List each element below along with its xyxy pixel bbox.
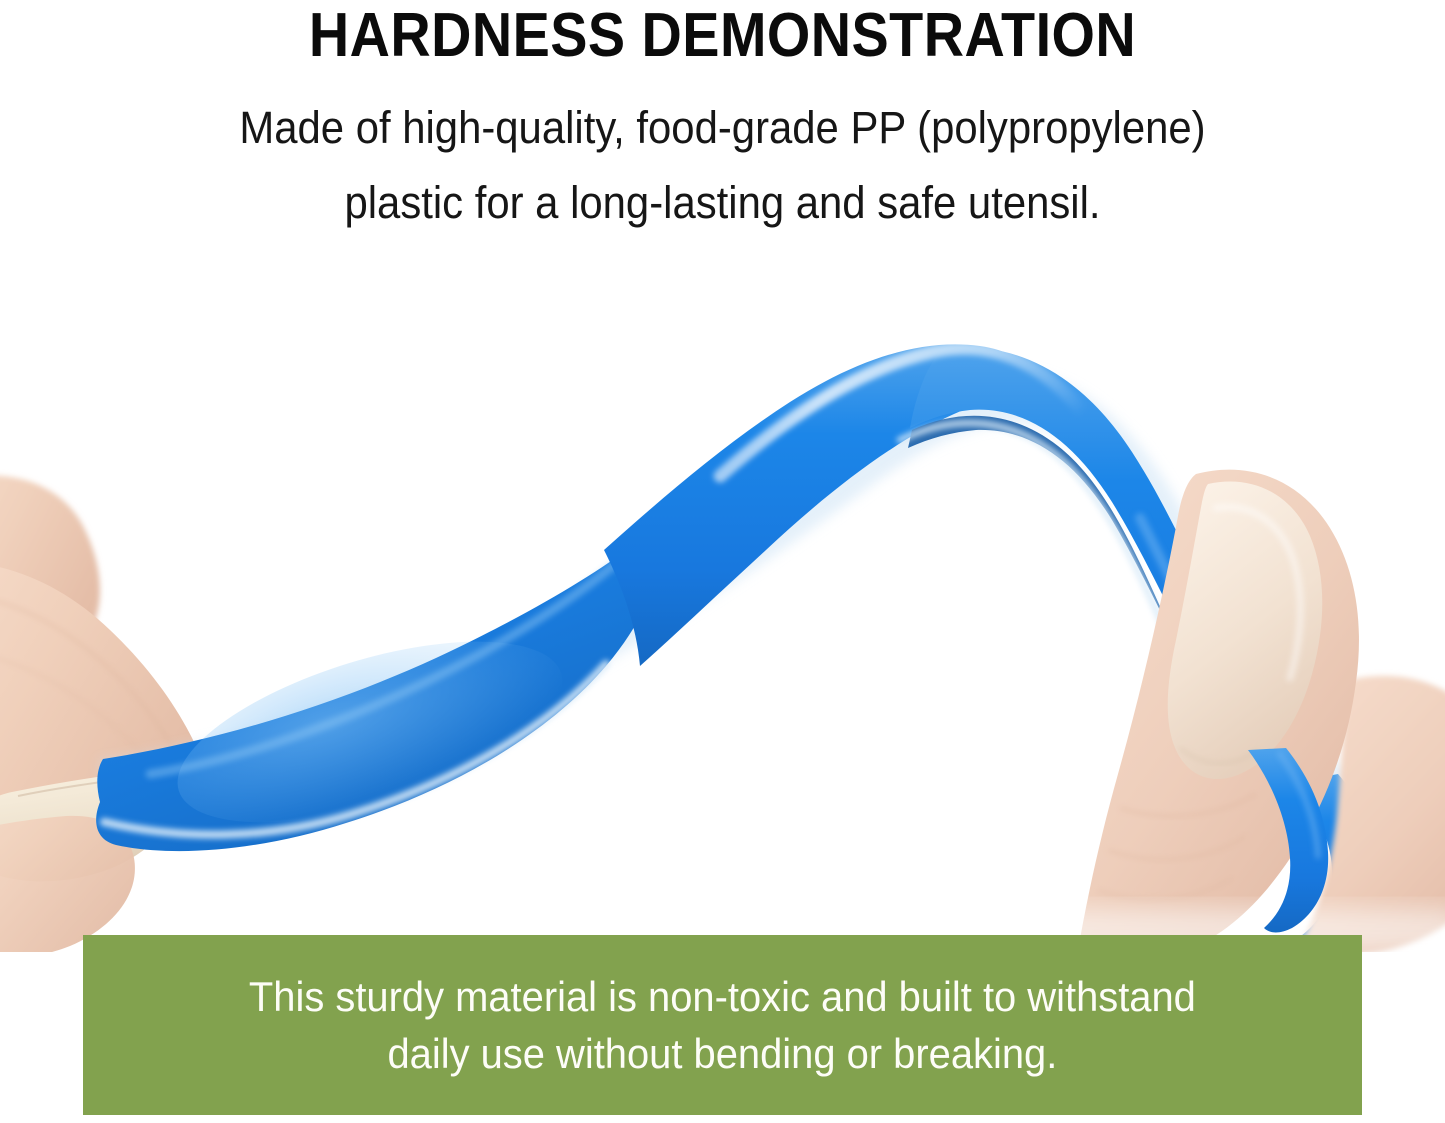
subtitle: Made of high-quality, food-grade PP (pol…: [51, 70, 1395, 240]
callout-line-1: This sturdy material is non-toxic and bu…: [249, 968, 1196, 1025]
product-photo: [0, 262, 1445, 952]
header-block: HARDNESS DEMONSTRATION Made of high-qual…: [0, 0, 1445, 240]
infographic-page: HARDNESS DEMONSTRATION Made of high-qual…: [0, 0, 1445, 1123]
bent-spoon-illustration: [0, 262, 1445, 952]
subtitle-line-2: plastic for a long-lasting and safe uten…: [51, 165, 1395, 240]
callout-line-2: daily use without bending or breaking.: [249, 1025, 1196, 1082]
page-title: HARDNESS DEMONSTRATION: [72, 0, 1373, 70]
callout-text: This sturdy material is non-toxic and bu…: [249, 968, 1196, 1082]
callout-banner: This sturdy material is non-toxic and bu…: [83, 935, 1362, 1115]
subtitle-line-1: Made of high-quality, food-grade PP (pol…: [51, 90, 1395, 165]
